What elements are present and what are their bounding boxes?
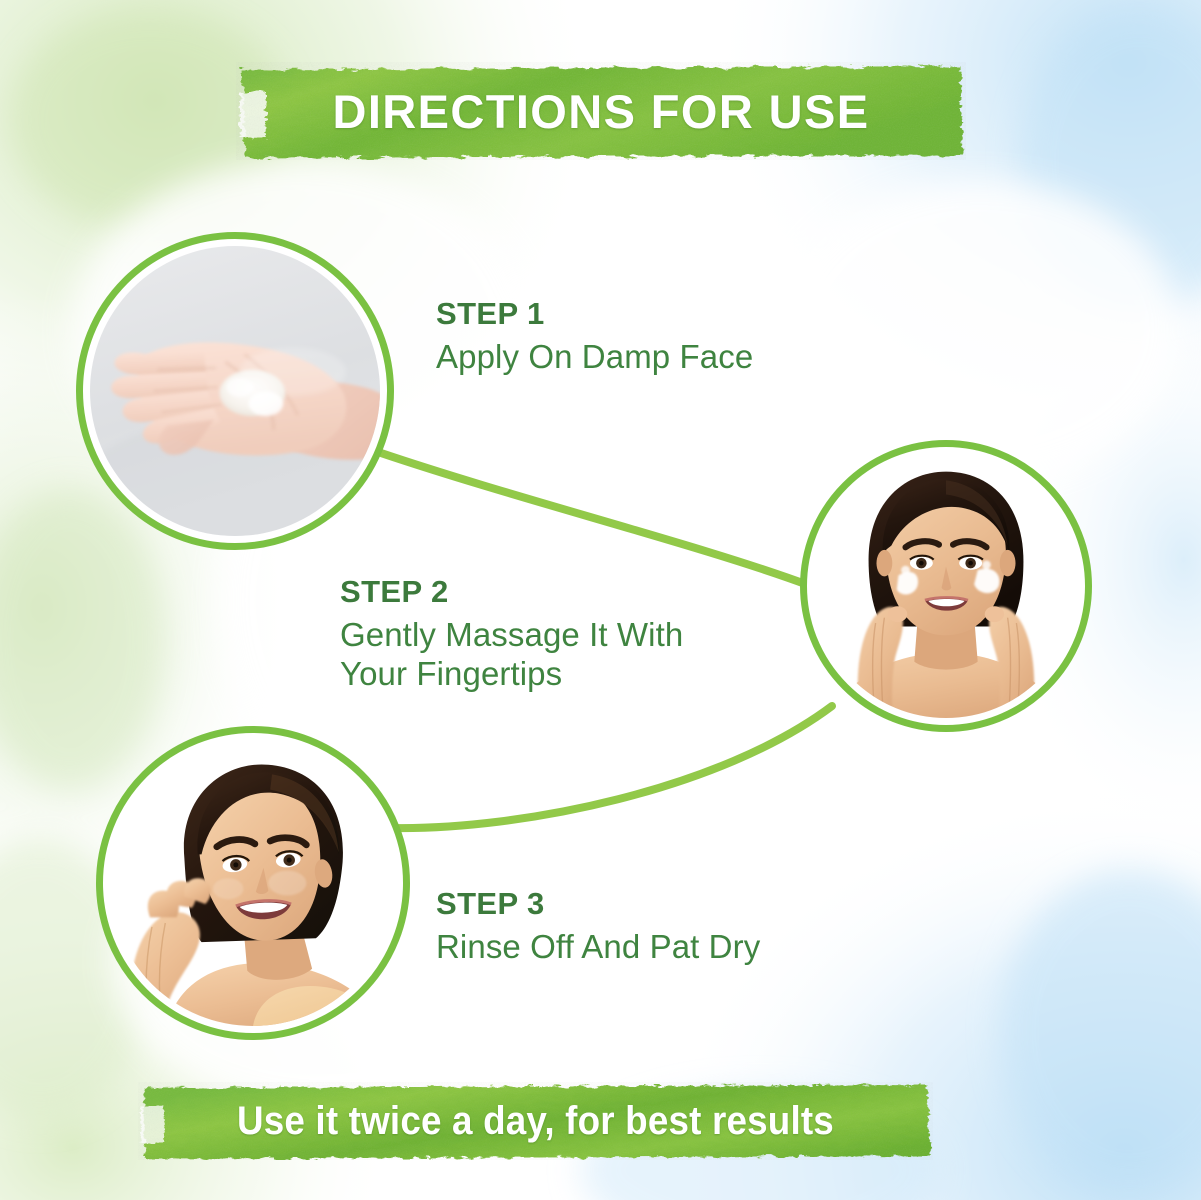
step-2-description-line-2: Your Fingertips [340, 654, 683, 694]
footer-tagline: Use it twice a day, for best results [237, 1099, 834, 1144]
footer-banner: Use it twice a day, for best results [138, 1082, 933, 1160]
connector-step2-to-step3 [392, 706, 832, 828]
header-banner: DIRECTIONS FOR USE [236, 62, 966, 160]
step-3-text-block: STEP 3 Rinse Off And Pat Dry [436, 886, 760, 966]
woman-clean-face-photo [110, 740, 396, 1026]
step-3-image-circle [96, 726, 410, 1040]
step-2-text-block: STEP 2 Gently Massage It With Your Finge… [340, 574, 683, 694]
step-1-description: Apply On Damp Face [436, 337, 753, 377]
step-2-label: STEP 2 [340, 574, 683, 610]
connector-step1-to-step2 [378, 452, 808, 585]
step-1-text-block: STEP 1 Apply On Damp Face [436, 296, 753, 376]
open-palm-with-cleanser-photo [90, 246, 380, 536]
step-1-label: STEP 1 [436, 296, 753, 332]
step-1-image-circle [76, 232, 394, 550]
woman-massaging-face-photo [814, 454, 1078, 718]
step-3-description: Rinse Off And Pat Dry [436, 927, 760, 967]
step-2-description-line-1: Gently Massage It With [340, 615, 683, 655]
step-2-image-circle [800, 440, 1092, 732]
page-title: DIRECTIONS FOR USE [332, 84, 869, 139]
step-3-label: STEP 3 [436, 886, 760, 922]
step-2-description: Gently Massage It With Your Fingertips [340, 615, 683, 694]
